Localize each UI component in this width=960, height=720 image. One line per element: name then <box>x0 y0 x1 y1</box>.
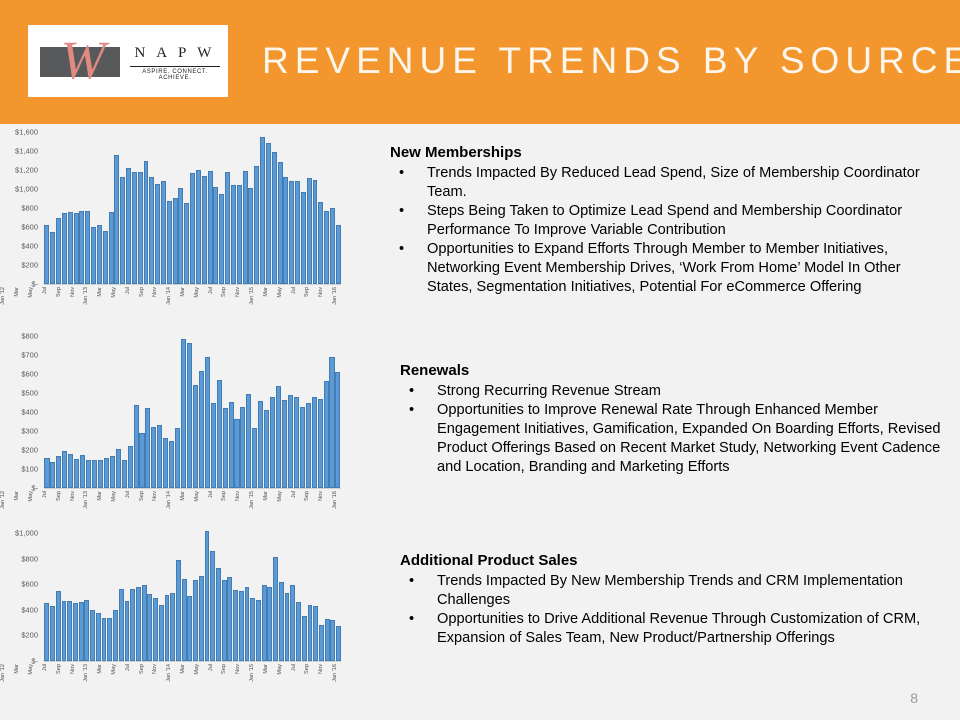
x-axis-tick <box>145 490 152 516</box>
bar <box>145 408 150 488</box>
x-axis-tick: Nov <box>318 663 325 689</box>
bar <box>256 600 261 661</box>
x-axis-tick: Mar <box>97 490 104 516</box>
bar <box>62 451 67 488</box>
x-axis-tick-label: Jan '14 <box>166 287 172 305</box>
y-axis-tick-label: $800 <box>21 204 38 213</box>
x-axis-tick-label: Jan '14 <box>166 664 172 682</box>
bar <box>73 603 78 661</box>
x-axis-tick-label: Jan '16 <box>332 664 338 682</box>
x-axis-tick: Jan '15 <box>249 663 256 689</box>
x-axis-tick-label: Mar <box>14 664 20 674</box>
x-axis-tick: Nov <box>69 663 76 689</box>
bar <box>250 598 255 661</box>
x-axis-tick: Jul <box>207 286 214 312</box>
x-axis-tick <box>256 286 263 312</box>
x-axis-tick: May <box>111 286 118 312</box>
bar <box>273 557 278 661</box>
x-axis-tick: Jul <box>124 663 131 689</box>
bar <box>176 560 181 661</box>
logo-tagline: ASPIRE. CONNECT. ACHIEVE. <box>128 69 222 81</box>
x-axis-tick <box>159 663 166 689</box>
x-axis-tick: Mar <box>180 490 187 516</box>
chart-renewals-x-axis: Jan '12MarMayJulSepNovJan '13MarMayJulSe… <box>0 490 345 516</box>
bar <box>178 188 183 284</box>
bar <box>44 225 49 284</box>
x-axis-tick: Jan '16 <box>332 663 339 689</box>
x-axis-tick: May <box>111 663 118 689</box>
x-axis-tick <box>228 286 235 312</box>
bar <box>213 187 218 284</box>
x-axis-tick: May <box>276 286 283 312</box>
bar <box>306 403 311 489</box>
bar <box>324 211 329 284</box>
x-axis-tick: Nov <box>69 286 76 312</box>
bar <box>151 427 156 488</box>
bar <box>184 203 189 284</box>
x-axis-tick-label: Sep <box>139 287 145 297</box>
bar <box>258 401 263 488</box>
bar <box>102 618 107 661</box>
list-item-text: Trends Impacted By Reduced Lead Spend, S… <box>427 165 920 200</box>
x-axis-tick: Jul <box>41 490 48 516</box>
x-axis-tick <box>186 490 193 516</box>
list-item-text: Opportunities to Expand Efforts Through … <box>427 241 901 295</box>
bar <box>260 137 265 284</box>
x-axis-tick <box>131 663 138 689</box>
x-axis-tick-label: Nov <box>318 287 324 297</box>
x-axis-tick <box>256 663 263 689</box>
x-axis-tick <box>242 490 249 516</box>
logo-w-mark: W <box>40 31 124 89</box>
y-axis-tick-label: $1,200 <box>15 166 38 175</box>
bar <box>167 201 172 284</box>
page-title: REVENUE TRENDS BY SOURCE <box>262 40 960 82</box>
bar <box>313 180 318 284</box>
x-axis-tick-label: May <box>194 664 200 675</box>
x-axis-tick: Jan '15 <box>249 490 256 516</box>
x-axis-tick-label: Jul <box>208 287 214 294</box>
bar <box>80 455 85 488</box>
bar <box>289 181 294 284</box>
x-axis-tick: May <box>276 663 283 689</box>
bar <box>264 410 269 488</box>
list-item: • Steps Being Taken to Optimize Lead Spe… <box>390 202 942 240</box>
logo-divider <box>130 66 220 67</box>
x-axis-tick <box>7 286 14 312</box>
y-axis-tick-label: $1,400 <box>15 147 38 156</box>
bar <box>234 419 239 488</box>
x-axis-tick: May <box>111 490 118 516</box>
x-axis-tick: May <box>28 286 35 312</box>
chart-renewals-plot-area <box>44 336 341 488</box>
x-axis-tick-label: Jul <box>208 491 214 498</box>
bar <box>296 602 301 661</box>
x-axis-tick <box>269 663 276 689</box>
bar <box>119 589 124 661</box>
bar <box>231 185 236 284</box>
x-axis-tick-label: Mar <box>14 287 20 297</box>
bar <box>50 606 55 661</box>
x-axis-tick <box>7 490 14 516</box>
x-axis-tick <box>186 286 193 312</box>
x-axis-tick-label: Sep <box>139 664 145 674</box>
bar <box>116 449 121 488</box>
x-axis-tick <box>283 286 290 312</box>
x-axis-tick: Jan '16 <box>332 286 339 312</box>
chart-new-memberships-x-axis: Jan '12MarMayJulSepNovJan '13MarMayJulSe… <box>0 286 345 312</box>
x-axis-tick-label: Nov <box>152 491 158 501</box>
bar <box>252 428 257 488</box>
x-axis-tick: Nov <box>152 663 159 689</box>
logo-wordmark: N A P W <box>130 45 220 62</box>
x-axis-tick <box>117 490 124 516</box>
x-axis-tick-label: Sep <box>56 664 62 674</box>
x-axis-tick: Jul <box>124 490 131 516</box>
bar <box>202 176 207 284</box>
x-axis-tick-label: Jul <box>42 491 48 498</box>
bar <box>300 407 305 488</box>
y-axis-tick-label: $700 <box>21 351 38 360</box>
list-item: • Opportunities to Expand Efforts Throug… <box>390 240 942 297</box>
bar <box>142 585 147 661</box>
x-axis-tick <box>35 286 42 312</box>
x-axis-tick-label: Jan '15 <box>249 287 255 305</box>
x-axis-tick <box>311 490 318 516</box>
x-axis-tick: May <box>193 663 200 689</box>
x-axis-tick <box>21 663 28 689</box>
x-axis-tick <box>35 663 42 689</box>
section-bullet-list: • Strong Recurring Revenue Stream • Oppo… <box>400 382 948 478</box>
bar <box>318 202 323 284</box>
bar <box>163 438 168 488</box>
x-axis-tick-label: Jan '15 <box>249 664 255 682</box>
x-axis-tick-label: Jan '15 <box>249 491 255 509</box>
list-item: • Trends Impacted By Reduced Lead Spend,… <box>390 164 942 202</box>
bar <box>187 343 192 488</box>
x-axis-tick: May <box>193 490 200 516</box>
bar <box>68 212 73 284</box>
bar <box>62 213 67 284</box>
x-axis-tick <box>145 663 152 689</box>
x-axis-tick-label: Mar <box>97 664 103 674</box>
x-axis-tick-label: Mar <box>263 287 269 297</box>
x-axis-tick <box>104 286 111 312</box>
y-axis-tick-label: $500 <box>21 389 38 398</box>
x-axis-tick-label: Sep <box>139 491 145 501</box>
x-axis-tick <box>117 286 124 312</box>
bar <box>216 568 221 661</box>
y-axis-tick-label: $800 <box>21 332 38 341</box>
x-axis-tick-label: Jul <box>291 664 297 671</box>
y-axis-tick-label: $200 <box>21 631 38 640</box>
chart-new-memberships-axis-line <box>44 284 341 285</box>
x-axis-tick-label: Jan '13 <box>83 491 89 509</box>
x-axis-tick: May <box>28 490 35 516</box>
x-axis-tick <box>228 490 235 516</box>
bar <box>122 460 127 488</box>
bar <box>107 618 112 661</box>
bar <box>282 400 287 488</box>
list-item: • Opportunities to Drive Additional Reve… <box>400 610 940 648</box>
x-axis-tick: Sep <box>138 490 145 516</box>
bar <box>205 531 210 661</box>
x-axis-tick: Mar <box>180 663 187 689</box>
x-axis-tick: Jan '15 <box>249 286 256 312</box>
list-item-text: Opportunities to Drive Additional Revenu… <box>437 611 920 646</box>
bullet-glyph: • <box>399 202 404 221</box>
x-axis-tick: Sep <box>55 663 62 689</box>
x-axis-tick-label: Nov <box>152 664 158 674</box>
section-additional-product-sales: Additional Product Sales • Trends Impact… <box>400 552 940 648</box>
bar <box>91 227 96 284</box>
x-axis-tick <box>159 490 166 516</box>
x-axis-tick: Jul <box>290 663 297 689</box>
x-axis-tick-label: Sep <box>304 287 310 297</box>
x-axis-tick-label: Nov <box>70 664 76 674</box>
bar <box>222 580 227 661</box>
x-axis-tick: Jan '13 <box>83 286 90 312</box>
y-axis-tick-label: $400 <box>21 242 38 251</box>
bullet-glyph: • <box>409 572 414 591</box>
bar <box>262 585 267 661</box>
x-axis-tick: Sep <box>55 286 62 312</box>
section-bullet-list: • Trends Impacted By New Membership Tren… <box>400 572 940 648</box>
bar <box>199 576 204 662</box>
bar <box>86 460 91 489</box>
bar <box>246 394 251 488</box>
x-axis-tick <box>325 286 332 312</box>
x-axis-tick-label: Jan '12 <box>0 491 6 509</box>
x-axis-tick <box>200 490 207 516</box>
x-axis-tick <box>214 286 221 312</box>
bar <box>84 600 89 661</box>
x-axis-tick-label: Mar <box>263 491 269 501</box>
y-axis-tick-label: $400 <box>21 605 38 614</box>
x-axis-tick-label: May <box>111 664 117 675</box>
x-axis-tick <box>200 663 207 689</box>
y-axis-tick-label: $100 <box>21 465 38 474</box>
x-axis-tick: Nov <box>152 490 159 516</box>
bar <box>330 208 335 284</box>
slide-header: W N A P W ASPIRE. CONNECT. ACHIEVE. REVE… <box>0 0 960 124</box>
x-axis-tick: Sep <box>304 663 311 689</box>
x-axis-tick <box>325 490 332 516</box>
bar <box>110 456 115 488</box>
x-axis-tick: Sep <box>304 286 311 312</box>
y-axis-tick-label: $1,000 <box>15 185 38 194</box>
x-axis-tick-label: Jan '13 <box>83 287 89 305</box>
x-axis-tick: Jul <box>41 286 48 312</box>
x-axis-tick <box>117 663 124 689</box>
bar <box>74 213 79 284</box>
section-bullet-list: • Trends Impacted By Reduced Lead Spend,… <box>390 164 942 298</box>
chart-additional-product-sales: $1,000$800$600$400$200$- Jan '12MarMayJu… <box>0 533 345 705</box>
bar <box>254 166 259 284</box>
list-item-text: Strong Recurring Revenue Stream <box>437 383 661 399</box>
chart-new-memberships-plot-area <box>44 132 341 284</box>
bar <box>134 405 139 488</box>
x-axis-tick-label: Sep <box>221 287 227 297</box>
bar <box>173 198 178 284</box>
bar <box>229 402 234 488</box>
x-axis-tick-label: May <box>194 491 200 502</box>
bar <box>308 605 313 661</box>
page-number: 8 <box>910 690 918 706</box>
x-axis-tick: Nov <box>318 490 325 516</box>
x-axis-tick-label: Sep <box>221 491 227 501</box>
x-axis-tick-label: Sep <box>304 491 310 501</box>
x-axis-tick-label: Jul <box>42 287 48 294</box>
x-axis-tick <box>256 490 263 516</box>
x-axis-tick <box>214 490 221 516</box>
x-axis-tick <box>297 663 304 689</box>
x-axis-tick-label: Nov <box>235 287 241 297</box>
bar <box>290 585 295 661</box>
bar <box>125 601 130 661</box>
bar <box>319 625 324 661</box>
x-axis-tick-label: Jan '16 <box>332 287 338 305</box>
x-axis-tick <box>76 286 83 312</box>
bar <box>199 371 204 488</box>
chart-additional-product-sales-plot-area <box>44 533 341 661</box>
x-axis-tick: Mar <box>262 490 269 516</box>
x-axis-tick <box>173 286 180 312</box>
x-axis-tick <box>311 286 318 312</box>
bar <box>193 385 198 488</box>
x-axis-tick-label: May <box>277 287 283 298</box>
chart-additional-product-sales-x-axis: Jan '12MarMayJulSepNovJan '13MarMayJulSe… <box>0 663 345 689</box>
bar <box>187 596 192 661</box>
x-axis-tick <box>104 663 111 689</box>
x-axis-tick-label: Jan '13 <box>83 664 89 682</box>
x-axis-tick <box>338 286 345 312</box>
section-heading: Renewals <box>400 362 948 381</box>
x-axis-tick: Nov <box>318 286 325 312</box>
x-axis-tick <box>325 663 332 689</box>
chart-new-memberships-bars <box>44 132 341 284</box>
x-axis-tick: Nov <box>235 286 242 312</box>
x-axis-tick-label: Sep <box>221 664 227 674</box>
x-axis-tick: Nov <box>69 490 76 516</box>
bar <box>266 143 271 284</box>
x-axis-tick: Jan '13 <box>83 490 90 516</box>
x-axis-tick <box>159 286 166 312</box>
bar <box>56 456 61 488</box>
bullet-glyph: • <box>409 401 414 420</box>
bar <box>144 161 149 285</box>
bar <box>169 441 174 488</box>
bar <box>243 171 248 284</box>
bar <box>233 590 238 661</box>
x-axis-tick <box>283 663 290 689</box>
bar <box>248 188 253 284</box>
bar <box>155 184 160 284</box>
x-axis-tick <box>104 490 111 516</box>
y-axis-tick-label: $300 <box>21 427 38 436</box>
x-axis-tick-label: May <box>194 287 200 298</box>
x-axis-tick: Jan '13 <box>83 663 90 689</box>
bar <box>114 155 119 284</box>
bar <box>196 170 201 284</box>
bar <box>132 172 137 284</box>
bar <box>312 397 317 488</box>
section-heading: New Memberships <box>390 144 942 163</box>
chart-renewals-bars <box>44 336 341 488</box>
x-axis-tick <box>90 286 97 312</box>
x-axis-tick <box>297 490 304 516</box>
bar <box>67 601 72 661</box>
x-axis-tick <box>48 490 55 516</box>
bar <box>193 580 198 661</box>
bar <box>74 459 79 488</box>
y-axis-tick-label: $600 <box>21 370 38 379</box>
x-axis-tick-label: May <box>111 491 117 502</box>
bar <box>336 626 341 661</box>
x-axis-tick-label: Jul <box>291 491 297 498</box>
x-axis-tick: Sep <box>138 286 145 312</box>
bar <box>157 425 162 488</box>
x-axis-tick-label: Jan '12 <box>0 287 6 305</box>
x-axis-tick: Jan '12 <box>0 663 7 689</box>
bar <box>219 194 224 284</box>
x-axis-tick: Mar <box>97 663 104 689</box>
bar <box>225 172 230 284</box>
bar <box>109 212 114 284</box>
x-axis-tick: Mar <box>262 663 269 689</box>
x-axis-tick: Jul <box>290 286 297 312</box>
bar <box>98 460 103 488</box>
x-axis-tick: Nov <box>235 663 242 689</box>
x-axis-tick: Mar <box>14 663 21 689</box>
x-axis-tick-label: May <box>277 664 283 675</box>
x-axis-tick-label: Mar <box>14 491 20 501</box>
x-axis-tick: Jan '16 <box>332 490 339 516</box>
x-axis-tick-label: Nov <box>235 491 241 501</box>
x-axis-tick-label: Jul <box>208 664 214 671</box>
bar <box>139 433 144 488</box>
bar <box>227 577 232 661</box>
x-axis-tick: May <box>276 490 283 516</box>
x-axis-tick <box>62 286 69 312</box>
bar <box>240 407 245 488</box>
x-axis-tick <box>48 663 55 689</box>
x-axis-tick: Mar <box>180 286 187 312</box>
x-axis-tick-label: Mar <box>97 287 103 297</box>
chart-renewals: $800$700$600$500$400$300$200$100$- Jan '… <box>0 336 345 532</box>
list-item: • Trends Impacted By New Membership Tren… <box>400 572 940 610</box>
bar <box>130 589 135 661</box>
x-axis-tick-label: Sep <box>56 491 62 501</box>
x-axis-tick: Jan '14 <box>166 490 173 516</box>
bullet-glyph: • <box>409 610 414 629</box>
x-axis-tick <box>228 663 235 689</box>
x-axis-tick: Sep <box>55 490 62 516</box>
x-axis-tick-label: Mar <box>180 664 186 674</box>
bar <box>267 587 272 661</box>
bar <box>270 397 275 488</box>
bar <box>165 595 170 661</box>
x-axis-tick <box>21 490 28 516</box>
bar <box>120 177 125 284</box>
bar <box>90 610 95 661</box>
x-axis-tick: May <box>193 286 200 312</box>
y-axis-tick-label: $600 <box>21 223 38 232</box>
bar <box>50 462 55 488</box>
bar <box>210 551 215 661</box>
x-axis-tick <box>131 286 138 312</box>
x-axis-tick <box>48 286 55 312</box>
